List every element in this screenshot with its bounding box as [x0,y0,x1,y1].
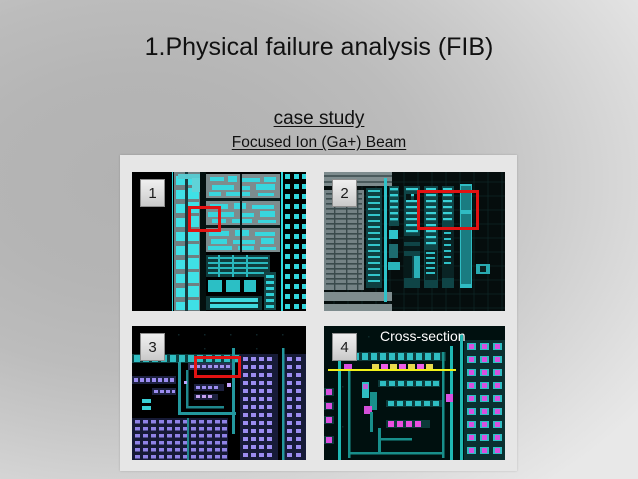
panel-3-badge: 3 [140,333,165,361]
cross-section-label: Cross-section [380,328,466,344]
slide-subtitle-secondary: Focused Ion (Ga+) Beam [0,134,638,152]
panel-3-highlight-box [194,356,241,378]
panel-1-highlight-box [188,206,221,232]
slide-title: 1.Physical failure analysis (FIB) [0,33,638,62]
panel-2[interactable]: 2 [324,172,505,311]
panel-1[interactable]: 1 [132,172,306,311]
cross-section-line [328,369,456,371]
panel-1-badge: 1 [140,179,165,207]
figure-frame: 1 [120,155,517,471]
slide-subtitle: case study [0,108,638,130]
slide-subtitle-text: case study [274,108,365,129]
panel-4-badge: 4 [332,333,357,361]
panel-2-badge: 2 [332,179,357,207]
panel-3[interactable]: 3 [132,326,306,460]
panel-2-highlight-box [417,190,479,230]
panel-4[interactable]: 4 Cross-section [324,326,505,460]
slide-subtitle-secondary-text: Focused Ion (Ga+) Beam [232,134,406,151]
slide-canvas: 1.Physical failure analysis (FIB) case s… [0,0,638,479]
